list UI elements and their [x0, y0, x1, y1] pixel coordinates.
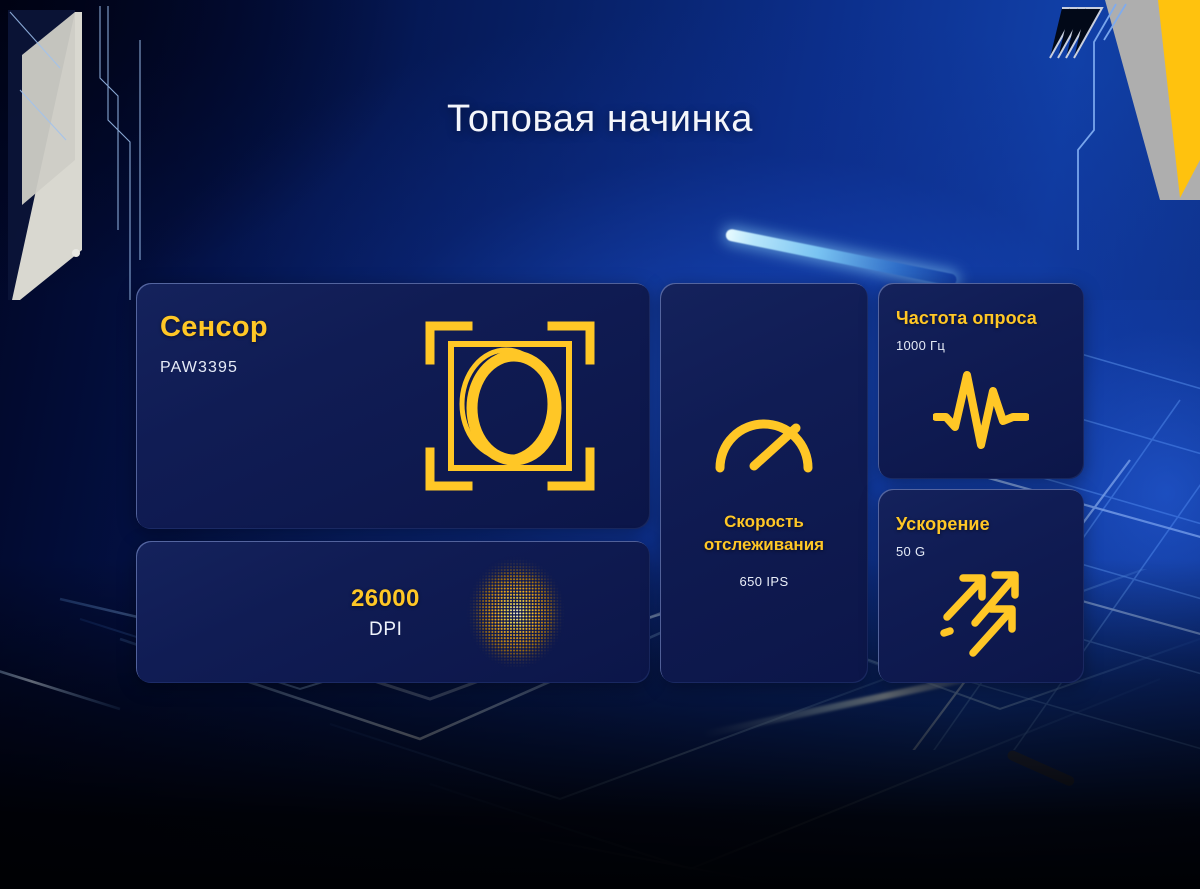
card-acceleration[interactable]: Ускорение 50 G — [878, 489, 1084, 683]
card-sensor[interactable]: Сенсор PAW3395 — [136, 283, 650, 529]
card-dpi[interactable]: 26000 DPI — [136, 541, 650, 683]
speedometer-gauge-icon — [710, 378, 818, 476]
acceleration-title: Ускорение — [896, 514, 990, 535]
dpi-label: DPI — [369, 619, 402, 641]
sensor-title: Сенсор — [160, 311, 268, 344]
tracking-speed-value: 650 IPS — [660, 574, 868, 589]
polling-rate-value: 1000 Гц — [896, 338, 945, 353]
card-tracking-speed[interactable]: Скорость отслеживания 650 IPS — [660, 283, 868, 683]
tracking-speed-title-line2: отслеживания — [660, 534, 868, 557]
dpi-value: 26000 — [351, 585, 420, 613]
acceleration-value: 50 G — [896, 544, 925, 559]
sensor-scan-icon — [424, 320, 596, 492]
arrows-up-right-icon — [933, 569, 1029, 659]
page-title: Топовая начинка — [0, 98, 1200, 141]
card-polling-rate[interactable]: Частота опроса 1000 Гц — [878, 283, 1084, 479]
decor-left-panel — [0, 0, 190, 300]
halftone-dot-glow-icon — [466, 556, 566, 670]
polling-rate-title: Частота опроса — [896, 308, 1037, 329]
tracking-speed-title: Скорость отслеживания — [660, 511, 868, 557]
slide-canvas: Топовая начинка Сенсор PAW3395 26000 DP — [0, 0, 1200, 889]
waveform-icon — [933, 365, 1029, 449]
sensor-model: PAW3395 — [160, 359, 238, 377]
spec-card-grid: Сенсор PAW3395 26000 DPI — [136, 283, 1084, 683]
tracking-speed-title-line1: Скорость — [660, 511, 868, 534]
